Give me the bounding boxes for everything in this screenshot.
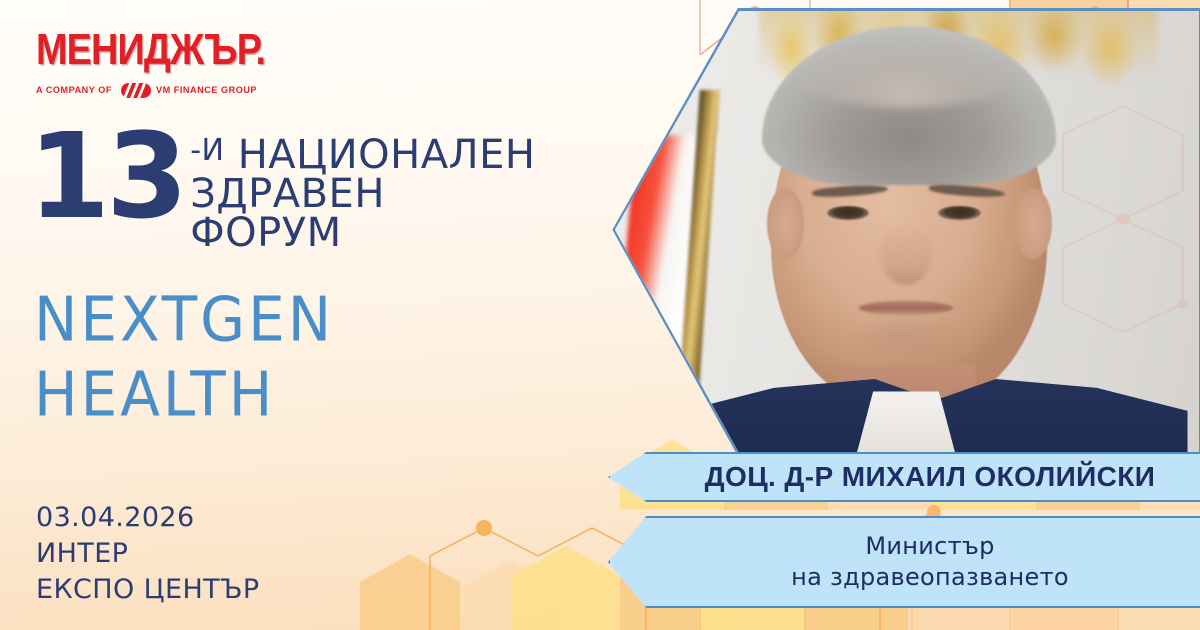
manager-logo: МЕНИДЖЪР. A COMPANY OF VM FINANCE GROUP: [36, 28, 296, 98]
tagline-prefix: A COMPANY OF: [36, 85, 112, 96]
theme-line-1: NEXTGEN: [34, 282, 334, 357]
speaker-role-line-1: Министър: [865, 531, 994, 562]
speaker-photo: [613, 11, 1200, 454]
vm-finance-icon: [121, 83, 151, 98]
company-tagline: A COMPANY OF VM FINANCE GROUP: [36, 83, 296, 98]
edition-number: 13: [28, 126, 184, 227]
event-headline: 13 -И НАЦИОНАЛЕН ЗДРАВЕН ФОРУМ: [28, 126, 536, 254]
speaker-role-banner: Министър на здравеопазването: [608, 516, 1200, 608]
speaker-photo-frame: [610, 8, 1200, 456]
theme-line-2: HEALTH: [34, 357, 334, 432]
headline-line-3: ФОРУМ: [190, 214, 535, 253]
manager-logo-wordmark: МЕНИДЖЪР.: [36, 28, 260, 72]
tagline-suffix: VM FINANCE GROUP: [156, 85, 257, 96]
event-poster: МЕНИДЖЪР. A COMPANY OF VM FINANCE GROUP …: [0, 0, 1200, 630]
speaker-role-line-2: на здравеопазването: [791, 562, 1069, 593]
speaker-name-banner: ДОЦ. Д-Р МИХАИЛ ОКОЛИЙСКИ: [608, 452, 1200, 502]
venue-line-2: ЕКСПО ЦЕНТЪР: [36, 572, 260, 608]
headline-line-2: ЗДРАВЕН: [190, 175, 535, 214]
edition-suffix: -И: [190, 133, 224, 168]
forum-theme: NEXTGEN HEALTH: [34, 282, 334, 432]
event-date: 03.04.2026: [36, 500, 260, 536]
venue-line-1: ИНТЕР: [36, 536, 260, 572]
speaker-name: ДОЦ. Д-Р МИХАИЛ ОКОЛИЙСКИ: [705, 461, 1156, 493]
event-details: 03.04.2026 ИНТЕР ЕКСПО ЦЕНТЪР: [36, 500, 260, 608]
